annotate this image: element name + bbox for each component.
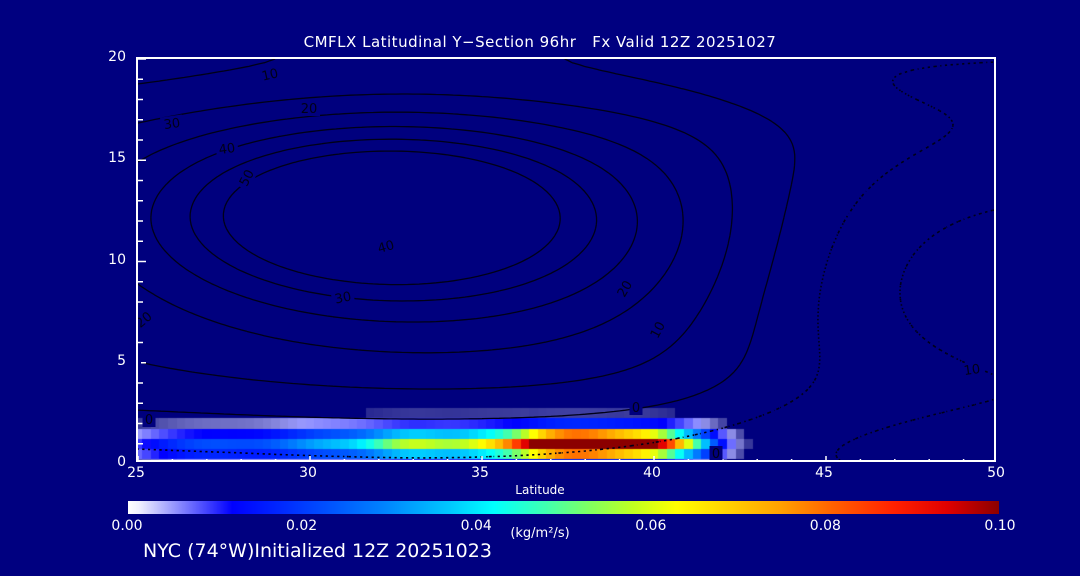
x-tick-label: 25 — [106, 465, 166, 481]
x-axis-label: Latitude — [0, 483, 1080, 497]
figure-caption: NYC (74°W)Initialized 12Z 20251023 — [143, 540, 492, 562]
contour-label: 0 — [712, 447, 720, 462]
contour-label: 10 — [260, 66, 279, 84]
contour-label-layer: 102030405040302010020100010 — [138, 59, 996, 462]
x-tick-label: 40 — [622, 465, 682, 481]
y-tick-label: 10 — [86, 252, 126, 268]
colorbar-unit-label: (kg/m²/s) — [0, 526, 1080, 541]
contour-label: 40 — [218, 141, 236, 158]
contour-label: 30 — [163, 116, 181, 133]
y-tick-label: 20 — [86, 49, 126, 65]
contour-label: 20 — [301, 102, 318, 117]
x-tick-label: 45 — [794, 465, 854, 481]
contour-label: 0 — [145, 413, 153, 428]
x-tick-label: 50 — [966, 465, 1026, 481]
page-title: CMFLX Latitudinal Y−Section 96hr Fx Vali… — [0, 33, 1080, 51]
contour-label: 10 — [963, 362, 981, 379]
x-tick-label: 30 — [278, 465, 338, 481]
colorbar — [127, 500, 1000, 515]
contour-label: 0 — [632, 401, 640, 416]
contour-label: 20 — [138, 309, 155, 331]
x-tick-label: 35 — [450, 465, 510, 481]
y-tick-label: 15 — [86, 150, 126, 166]
plot-area: 102030405040302010020100010 — [136, 57, 996, 462]
contour-label: 30 — [333, 289, 352, 307]
y-tick-label: 5 — [86, 353, 126, 369]
figure-canvas: CMFLX Latitudinal Y−Section 96hr Fx Vali… — [0, 0, 1080, 576]
